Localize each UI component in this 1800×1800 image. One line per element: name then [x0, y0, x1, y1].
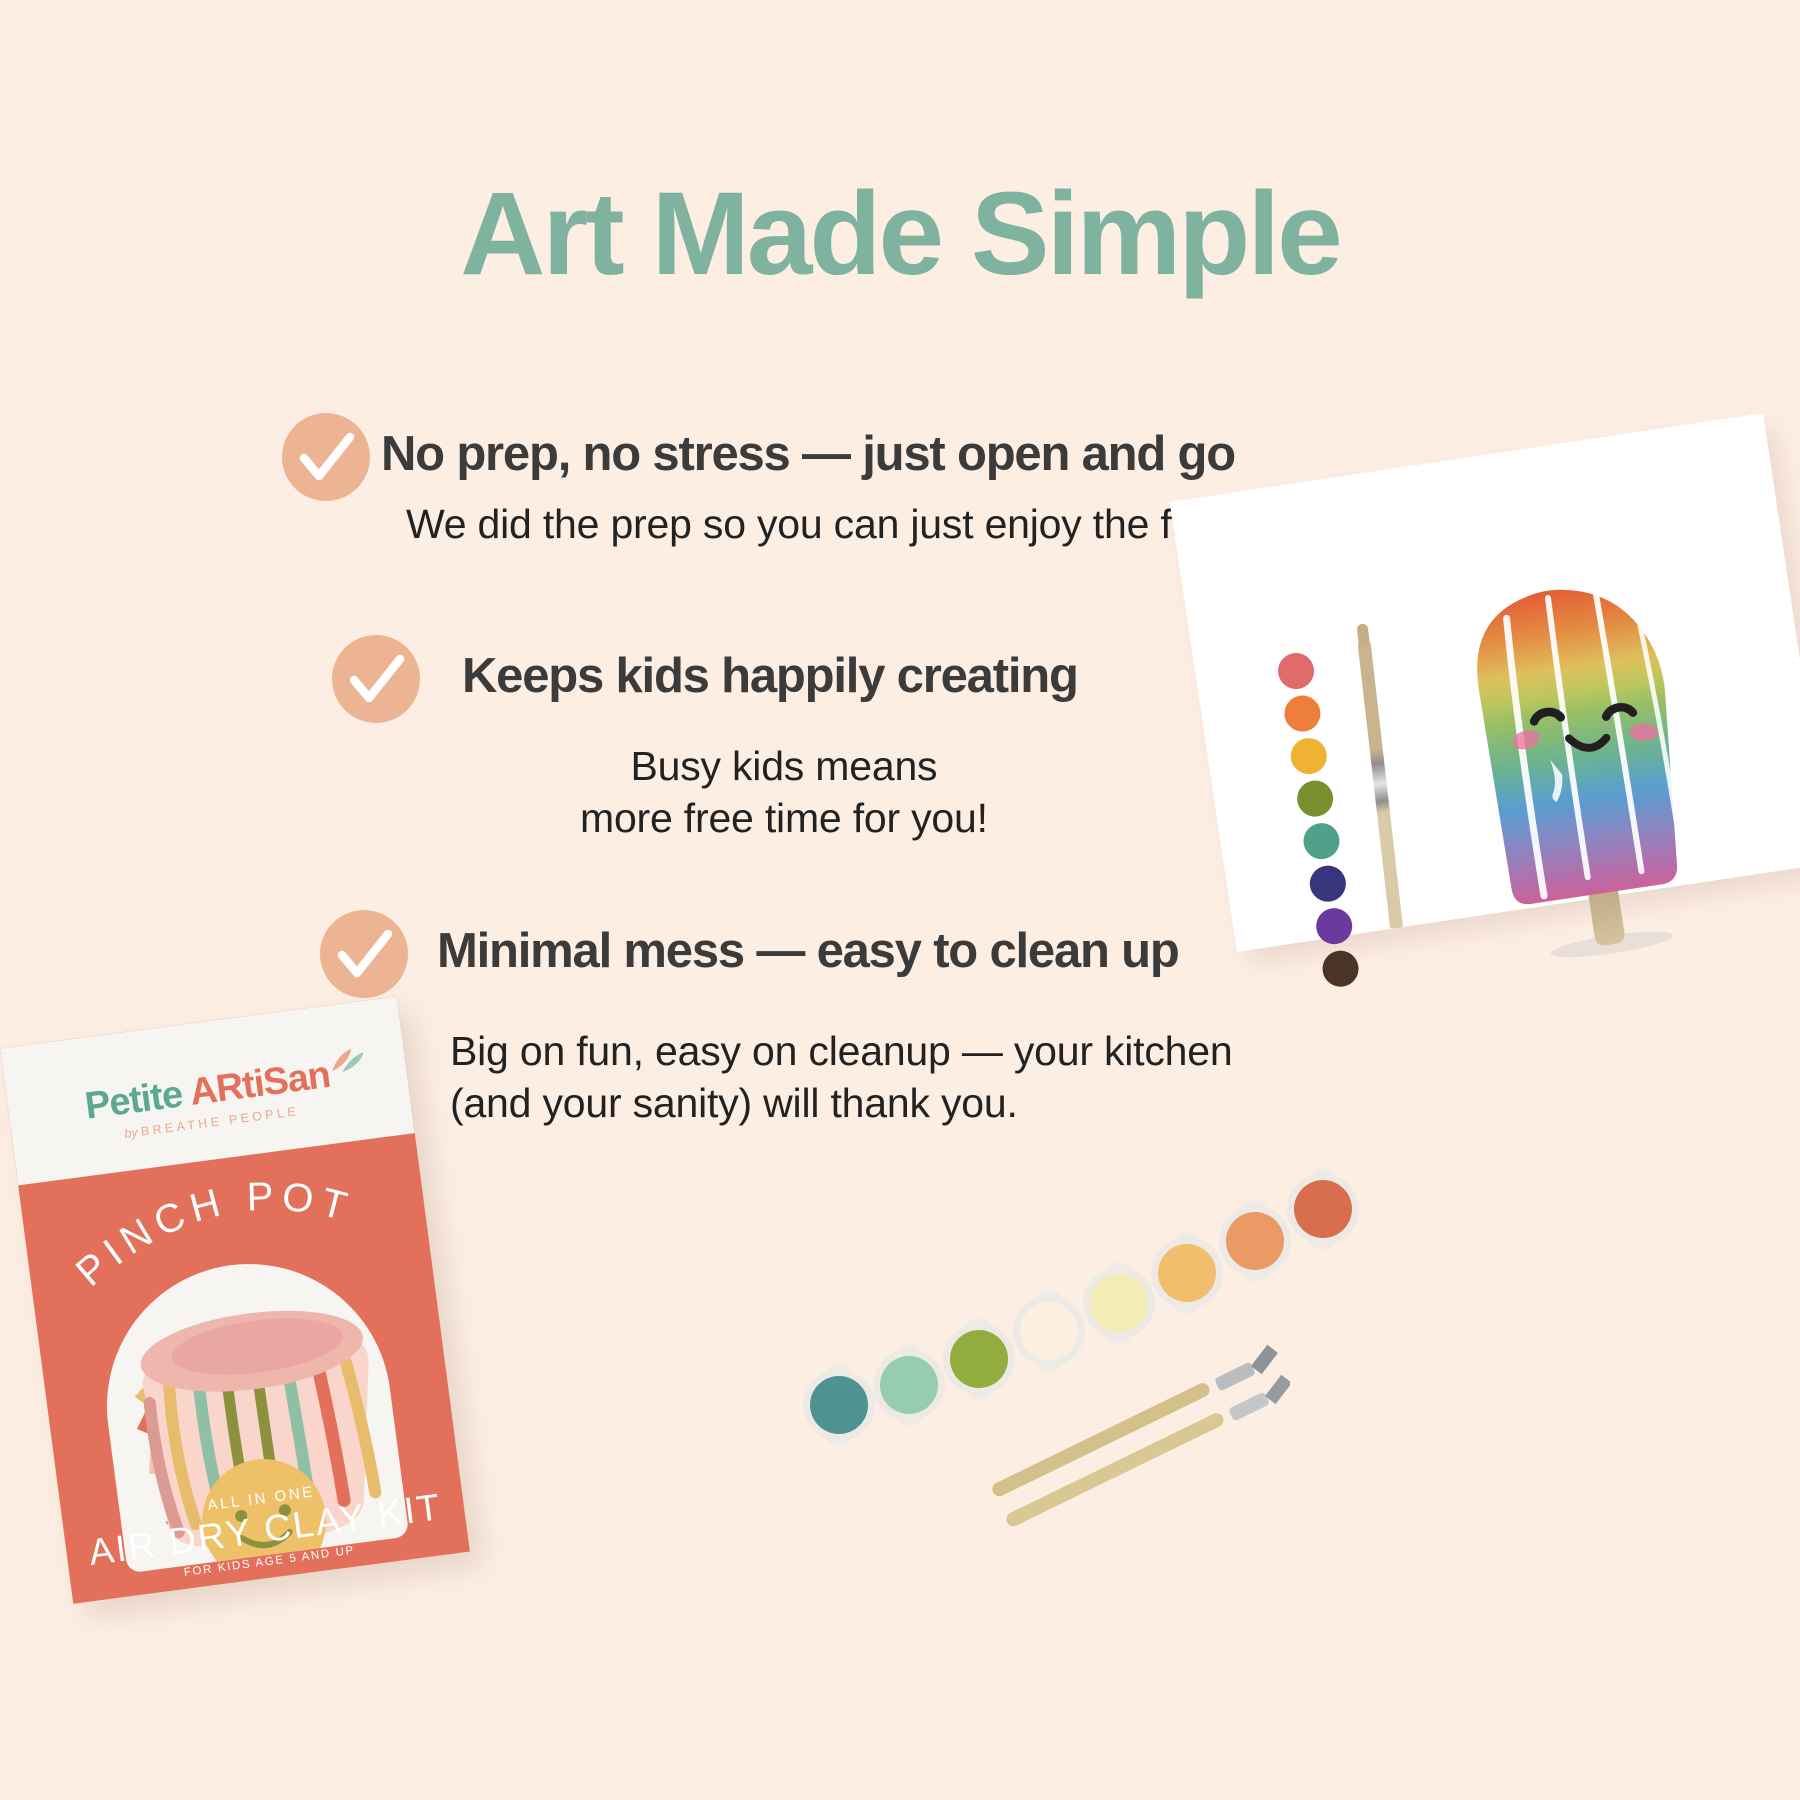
popsicle-card-swatch-column — [1276, 651, 1361, 990]
swatch-dot — [1307, 863, 1348, 904]
bullet-2-body-line2: more free time for you! — [580, 792, 988, 844]
paintbrush-icon — [1004, 1372, 1290, 1529]
check-icon — [332, 635, 420, 723]
paint-pan — [1294, 1180, 1352, 1238]
swatch-dot — [1276, 651, 1317, 692]
bullet-3-heading: Minimal mess — easy to clean up — [437, 923, 1179, 979]
bullet-3-body: Big on fun, easy on cleanup — your kitch… — [450, 1025, 1232, 1130]
paint-pan — [810, 1376, 868, 1434]
swatch-dot — [1301, 821, 1342, 862]
bullet-2-heading: Keeps kids happily creating — [462, 648, 1078, 704]
check-icon — [282, 413, 370, 501]
paint-pan — [1226, 1212, 1284, 1270]
leaf-flourish-icon — [325, 1045, 368, 1076]
page-title: Art Made Simple — [0, 175, 1800, 293]
bullet-3-body-line1: Big on fun, easy on cleanup — your kitch… — [450, 1025, 1232, 1077]
paintbrush-icon — [1357, 639, 1403, 929]
bullet-2-body: Busy kids means more free time for you! — [580, 740, 988, 845]
check-icon — [320, 910, 408, 998]
bullet-1-body: We did the prep so you can just enjoy th… — [406, 498, 1228, 550]
swatch-dot — [1282, 693, 1323, 734]
swatch-dot — [1295, 778, 1336, 819]
paint-pan — [880, 1356, 938, 1414]
bullet-2-body-line1: Busy kids means — [580, 740, 988, 792]
popsicle-illustration — [1406, 549, 1762, 989]
product-box-pinch-pot: Petite ARtiSan by BREATHE PEOPLE PINCH P… — [0, 996, 470, 1603]
swatch-dot — [1320, 948, 1361, 989]
paintbrush-icon — [990, 1342, 1283, 1499]
swatch-dot — [1288, 736, 1329, 777]
paintbrush-pair — [970, 1290, 1290, 1540]
bullet-3-body-line2: (and your sanity) will thank you. — [450, 1077, 1232, 1129]
swatch-dot — [1314, 906, 1355, 947]
popsicle-art-card — [1170, 413, 1800, 952]
bullet-1-heading: No prep, no stress — just open and go — [381, 426, 1235, 482]
